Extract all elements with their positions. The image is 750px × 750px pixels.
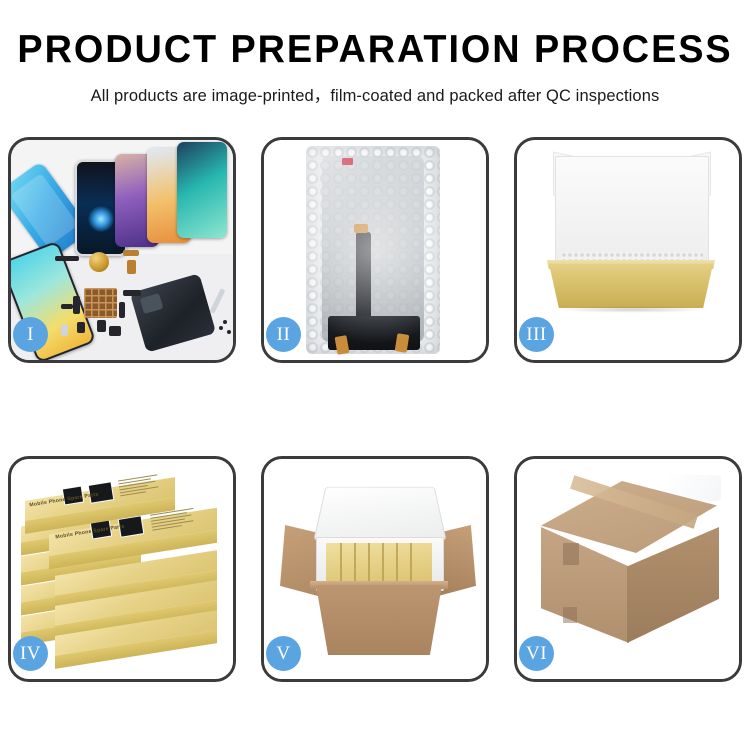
lcd-screen <box>322 156 424 342</box>
coil-part <box>89 252 109 272</box>
step-badge-5: V <box>266 636 301 671</box>
product-preparation-infographic: PRODUCT PREPARATION PROCESS All products… <box>0 0 750 750</box>
step-badge-4: IV <box>13 636 48 671</box>
carton-tab-lower <box>563 607 577 623</box>
header: PRODUCT PREPARATION PROCESS All products… <box>0 0 750 106</box>
step-badge-2: II <box>266 317 301 352</box>
foam-box-lid <box>313 487 446 541</box>
phone-teal <box>177 142 227 238</box>
step-panel-3: III <box>514 137 742 363</box>
step-badge-3: III <box>519 317 554 352</box>
step-badge-6: VI <box>519 636 554 671</box>
carton-tab-upper <box>563 543 579 565</box>
step-panel-2: II <box>261 137 489 363</box>
red-tab-marker <box>342 158 353 165</box>
step-panel-5: V <box>261 456 489 682</box>
step-panel-1: I <box>8 137 236 363</box>
steps-grid: I II <box>0 137 750 682</box>
gold-tray-wall <box>549 264 713 308</box>
page-subtitle: All products are image-printed，film-coat… <box>0 82 750 106</box>
page-title: PRODUCT PREPARATION PROCESS <box>11 30 739 71</box>
gold-boxes-inside <box>326 543 432 581</box>
step-panel-4: Mobile Phone Spare Parts Mobile Phone Sp… <box>8 456 236 682</box>
carton-front-wall <box>312 585 446 655</box>
chip-grid-part <box>84 288 117 318</box>
step-badge-1: I <box>13 317 48 352</box>
step-panel-6: VI <box>514 456 742 682</box>
flex-cable <box>356 232 371 328</box>
